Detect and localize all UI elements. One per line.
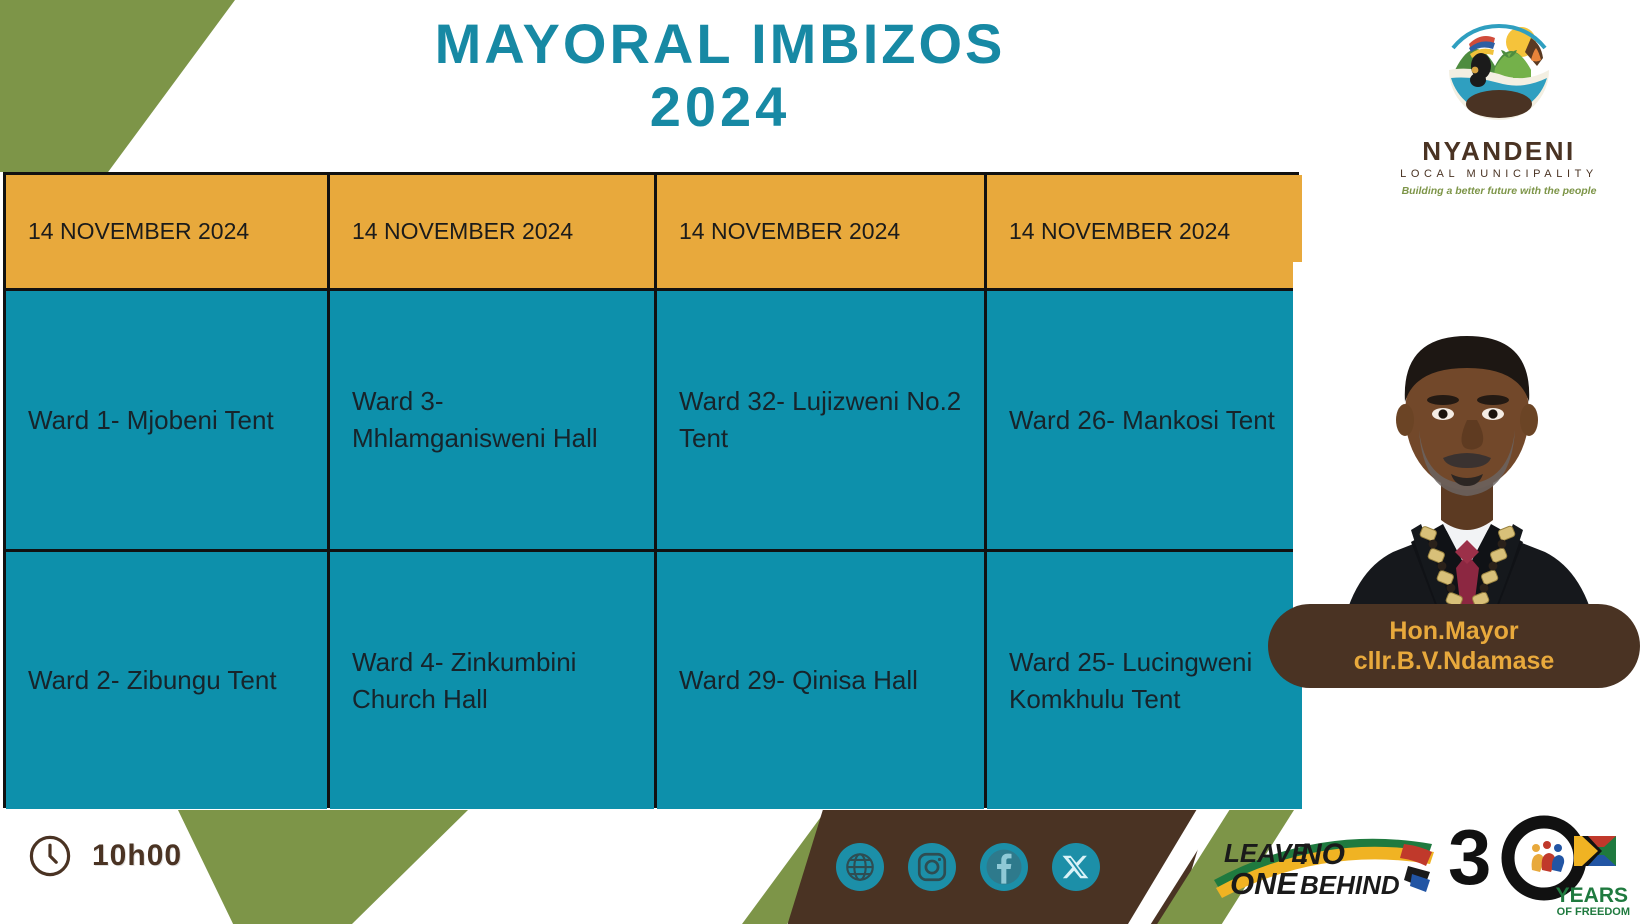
mayor-name: cllr.B.V.Ndamase xyxy=(1354,646,1555,676)
table-header-cell: 14 NOVEMBER 2024 xyxy=(987,175,1302,288)
leave-no-one-behind-logo: LEAVE NO ONE BEHIND xyxy=(1208,818,1438,914)
table-cell-venue: Ward 1- Mjobeni Tent xyxy=(6,291,327,549)
nyandeni-crest-icon xyxy=(1435,8,1563,136)
municipality-logo: NYANDENI LOCAL MUNICIPALITY Building a b… xyxy=(1370,8,1628,204)
time-label: 10h00 xyxy=(92,839,182,873)
title-line-1: MAYORAL IMBIZOS xyxy=(435,12,1006,75)
imbizo-schedule-table: 14 NOVEMBER 2024 14 NOVEMBER 2024 14 NOV… xyxy=(3,172,1299,808)
table-cell-venue: Ward 2- Zibungu Tent xyxy=(6,552,327,809)
table-header-cell: 14 NOVEMBER 2024 xyxy=(330,175,654,288)
green-corner-shape-top-left xyxy=(0,0,235,172)
svg-text:3: 3 xyxy=(1448,813,1491,901)
mayor-title: Hon.Mayor xyxy=(1389,616,1518,646)
instagram-icon[interactable] xyxy=(908,843,956,891)
svg-text:LEAVE: LEAVE xyxy=(1224,838,1309,868)
website-icon[interactable] xyxy=(836,843,884,891)
table-header-cell: 14 NOVEMBER 2024 xyxy=(6,175,327,288)
table-cell-venue: Ward 29- Qinisa Hall xyxy=(657,552,984,809)
logo-name: NYANDENI xyxy=(1422,138,1575,164)
logo-subtitle: LOCAL MUNICIPALITY xyxy=(1400,169,1598,180)
thirty-years-of-freedom-logo: 3 YEARS OF FREEDOM xyxy=(1448,812,1633,918)
clock-icon xyxy=(26,832,74,880)
table-cell-venue: Ward 26- Mankosi Tent xyxy=(987,291,1302,549)
svg-text:YEARS: YEARS xyxy=(1556,884,1628,907)
event-time: 10h00 xyxy=(26,826,182,886)
facebook-icon[interactable] xyxy=(980,843,1028,891)
mayor-portrait xyxy=(1293,262,1640,662)
table-cell-venue: Ward 25- Lucingweni Komkhulu Tent xyxy=(987,552,1302,809)
title-line-2: 2024 xyxy=(300,75,1140,138)
table-cell-venue: Ward 4- Zinkumbini Church Hall xyxy=(330,552,654,809)
svg-text:ONE: ONE xyxy=(1230,866,1299,901)
table-cell-venue: Ward 3- Mhlamganisweni Hall xyxy=(330,291,654,549)
svg-text:BEHIND: BEHIND xyxy=(1300,870,1400,900)
green-trapezoid-shape-bottom xyxy=(178,810,468,924)
mayor-name-banner: Hon.Mayor cllr.B.V.Ndamase xyxy=(1268,604,1640,688)
table-cell-venue: Ward 32- Lujizweni No.2 Tent xyxy=(657,291,984,549)
page-title: MAYORAL IMBIZOS 2024 xyxy=(300,12,1140,139)
table-header-cell: 14 NOVEMBER 2024 xyxy=(657,175,984,288)
social-links xyxy=(836,825,1156,909)
x-twitter-icon[interactable] xyxy=(1052,843,1100,891)
logo-tagline: Building a better future with the people xyxy=(1402,186,1597,197)
svg-text:NO: NO xyxy=(1300,838,1345,871)
poster-canvas: MAYORAL IMBIZOS 2024 xyxy=(0,0,1640,924)
svg-text:OF FREEDOM: OF FREEDOM xyxy=(1557,906,1630,918)
